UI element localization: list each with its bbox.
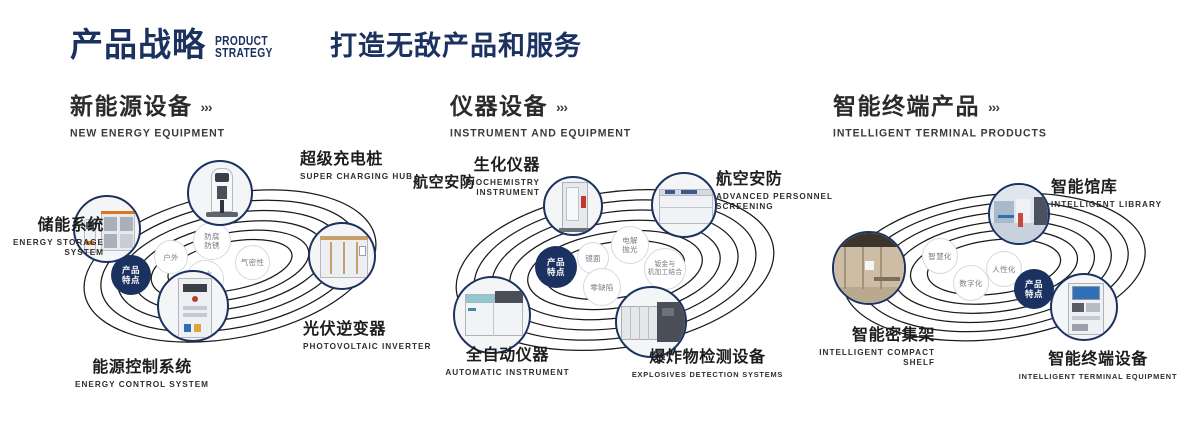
node-automatic-instrument[interactable] xyxy=(453,276,531,354)
node-super-charging-hub[interactable] xyxy=(187,160,253,226)
section-title-en: NEW ENERGY EQUIPMENT xyxy=(70,127,225,140)
pv-inverter-icon xyxy=(310,224,374,288)
explosives-detector-icon xyxy=(617,288,685,356)
node-intelligent-library[interactable] xyxy=(988,183,1050,245)
label-biochemistry-instrument: 生化仪器 BIOCHEMISTRY INSTRUMENT xyxy=(400,158,540,198)
core-bubble: 产品 特点 xyxy=(1014,269,1054,309)
node-biochemistry-instrument[interactable] xyxy=(543,176,603,236)
self-service-kiosk-icon xyxy=(1052,275,1116,339)
biochem-scanner-icon xyxy=(545,178,601,234)
label-intelligent-library: 智能馆库 INTELLIGENT LIBRARY xyxy=(1051,180,1162,210)
label-en: INTELLIGENT TERMINAL EQUIPMENT xyxy=(1000,372,1196,382)
label-cn: 能源控制系统 xyxy=(62,360,222,377)
label-cn: 智能馆库 xyxy=(1051,180,1162,197)
feature-bubble: 电解 抛光 xyxy=(611,226,649,264)
section-title-en: INTELLIGENT TERMINAL PRODUCTS xyxy=(833,127,1047,140)
label-cn: 光伏逆变器 xyxy=(303,322,431,339)
section-title-cn: 新能源设备 xyxy=(70,95,193,118)
section-title-intelligent-terminal: 智能终端产品››› INTELLIGENT TERMINAL PRODUCTS xyxy=(833,95,1047,139)
label-advanced-personnel-screening: 航空安防 ADVANCED PERSONNEL SCREENING xyxy=(716,172,833,212)
label-en: EXPLOSIVES DETECTION SYSTEMS xyxy=(620,370,795,380)
label-explosives-detection-systems: 爆炸物检测设备 EXPLOSIVES DETECTION SYSTEMS xyxy=(620,350,795,380)
label-energy-storage-system: 储能系统 ENERGY STORAGE SYSTEM xyxy=(0,218,104,258)
node-explosives-detection-systems[interactable] xyxy=(615,286,687,358)
label-cn: 航空安防 xyxy=(716,172,833,189)
core-bubble: 产品 特点 xyxy=(535,246,577,288)
section-title-cn: 仪器设备 xyxy=(450,95,548,118)
chevron-right-icon: ››› xyxy=(201,99,212,115)
feature-bubble: 钣金与 机加工结合 xyxy=(644,248,686,290)
feature-bubble: 户外 xyxy=(154,240,188,274)
label-automatic-instrument: 全自动仪器 AUTOMATIC INSTRUMENT xyxy=(425,348,590,378)
label-en: ADVANCED PERSONNEL SCREENING xyxy=(716,192,833,212)
screening-machine-icon xyxy=(653,174,715,236)
label-super-charging-hub: 超级充电桩 SUPER CHARGING HUB xyxy=(300,152,413,182)
automatic-analyzer-icon xyxy=(455,278,529,352)
feature-bubble: 零缺陷 xyxy=(583,268,621,306)
charging-pile-icon xyxy=(189,162,251,224)
feature-bubble: 数字化 xyxy=(953,265,989,301)
page-title: 产品战略 PRODUCT STRATEGY xyxy=(70,28,285,61)
page-title-cn: 产品战略 xyxy=(70,28,206,61)
label-en: ENERGY CONTROL SYSTEM xyxy=(62,380,222,390)
label-en: ENERGY STORAGE SYSTEM xyxy=(0,238,104,258)
label-en: INTELLIGENT COMPACT SHELF xyxy=(790,348,935,368)
node-energy-control-system[interactable] xyxy=(157,270,229,342)
section-title-cn: 智能终端产品 xyxy=(833,95,980,118)
feature-bubble: 智慧化 xyxy=(922,238,958,274)
section-title-en: INSTRUMENT AND EQUIPMENT xyxy=(450,127,631,140)
label-cn: 智能终端设备 xyxy=(1000,352,1196,369)
compact-shelf-icon xyxy=(834,233,904,303)
chevron-right-icon: ››› xyxy=(556,99,567,115)
feature-bubble: 防腐 防锈 xyxy=(193,222,231,260)
label-en: SUPER CHARGING HUB xyxy=(300,172,413,182)
section-title-new-energy: 新能源设备››› NEW ENERGY EQUIPMENT xyxy=(70,95,225,139)
control-cabinet-icon xyxy=(159,272,227,340)
product-strategy-infographic: 产品战略 PRODUCT STRATEGY 打造无敌产品和服务 新能源设备›››… xyxy=(0,0,1200,422)
label-en: PHOTOVOLTAIC INVERTER xyxy=(303,342,431,352)
label-cn: 生化仪器 xyxy=(400,158,540,175)
label-cn: 智能密集架 xyxy=(790,328,935,345)
label-cn: 储能系统 xyxy=(0,218,104,235)
label-cn: 超级充电桩 xyxy=(300,152,413,169)
node-photovoltaic-inverter[interactable] xyxy=(308,222,376,290)
node-intelligent-compact-shelf[interactable] xyxy=(832,231,906,305)
section-title-instrument: 仪器设备››› INSTRUMENT AND EQUIPMENT xyxy=(450,95,631,139)
label-en: AUTOMATIC INSTRUMENT xyxy=(425,368,590,378)
label-en: INTELLIGENT LIBRARY xyxy=(1051,200,1162,210)
node-intelligent-terminal-equipment[interactable] xyxy=(1050,273,1118,341)
label-intelligent-terminal-equipment: 智能终端设备 INTELLIGENT TERMINAL EQUIPMENT xyxy=(1000,352,1196,382)
label-cn: 爆炸物检测设备 xyxy=(620,350,795,367)
label-cn: 全自动仪器 xyxy=(425,348,590,365)
feature-bubble: 气密性 xyxy=(235,245,270,280)
chevron-right-icon: ››› xyxy=(988,99,999,115)
label-en: BIOCHEMISTRY INSTRUMENT xyxy=(400,178,540,198)
label-energy-control-system: 能源控制系统 ENERGY CONTROL SYSTEM xyxy=(62,360,222,390)
node-advanced-personnel-screening[interactable] xyxy=(651,172,717,238)
label-photovoltaic-inverter: 光伏逆变器 PHOTOVOLTAIC INVERTER xyxy=(303,322,431,352)
label-intelligent-compact-shelf: 智能密集架 INTELLIGENT COMPACT SHELF xyxy=(790,328,935,368)
page-title-en: PRODUCT STRATEGY xyxy=(215,35,273,59)
library-interior-icon xyxy=(990,185,1048,243)
page-subtitle: 打造无敌产品和服务 xyxy=(330,33,582,60)
